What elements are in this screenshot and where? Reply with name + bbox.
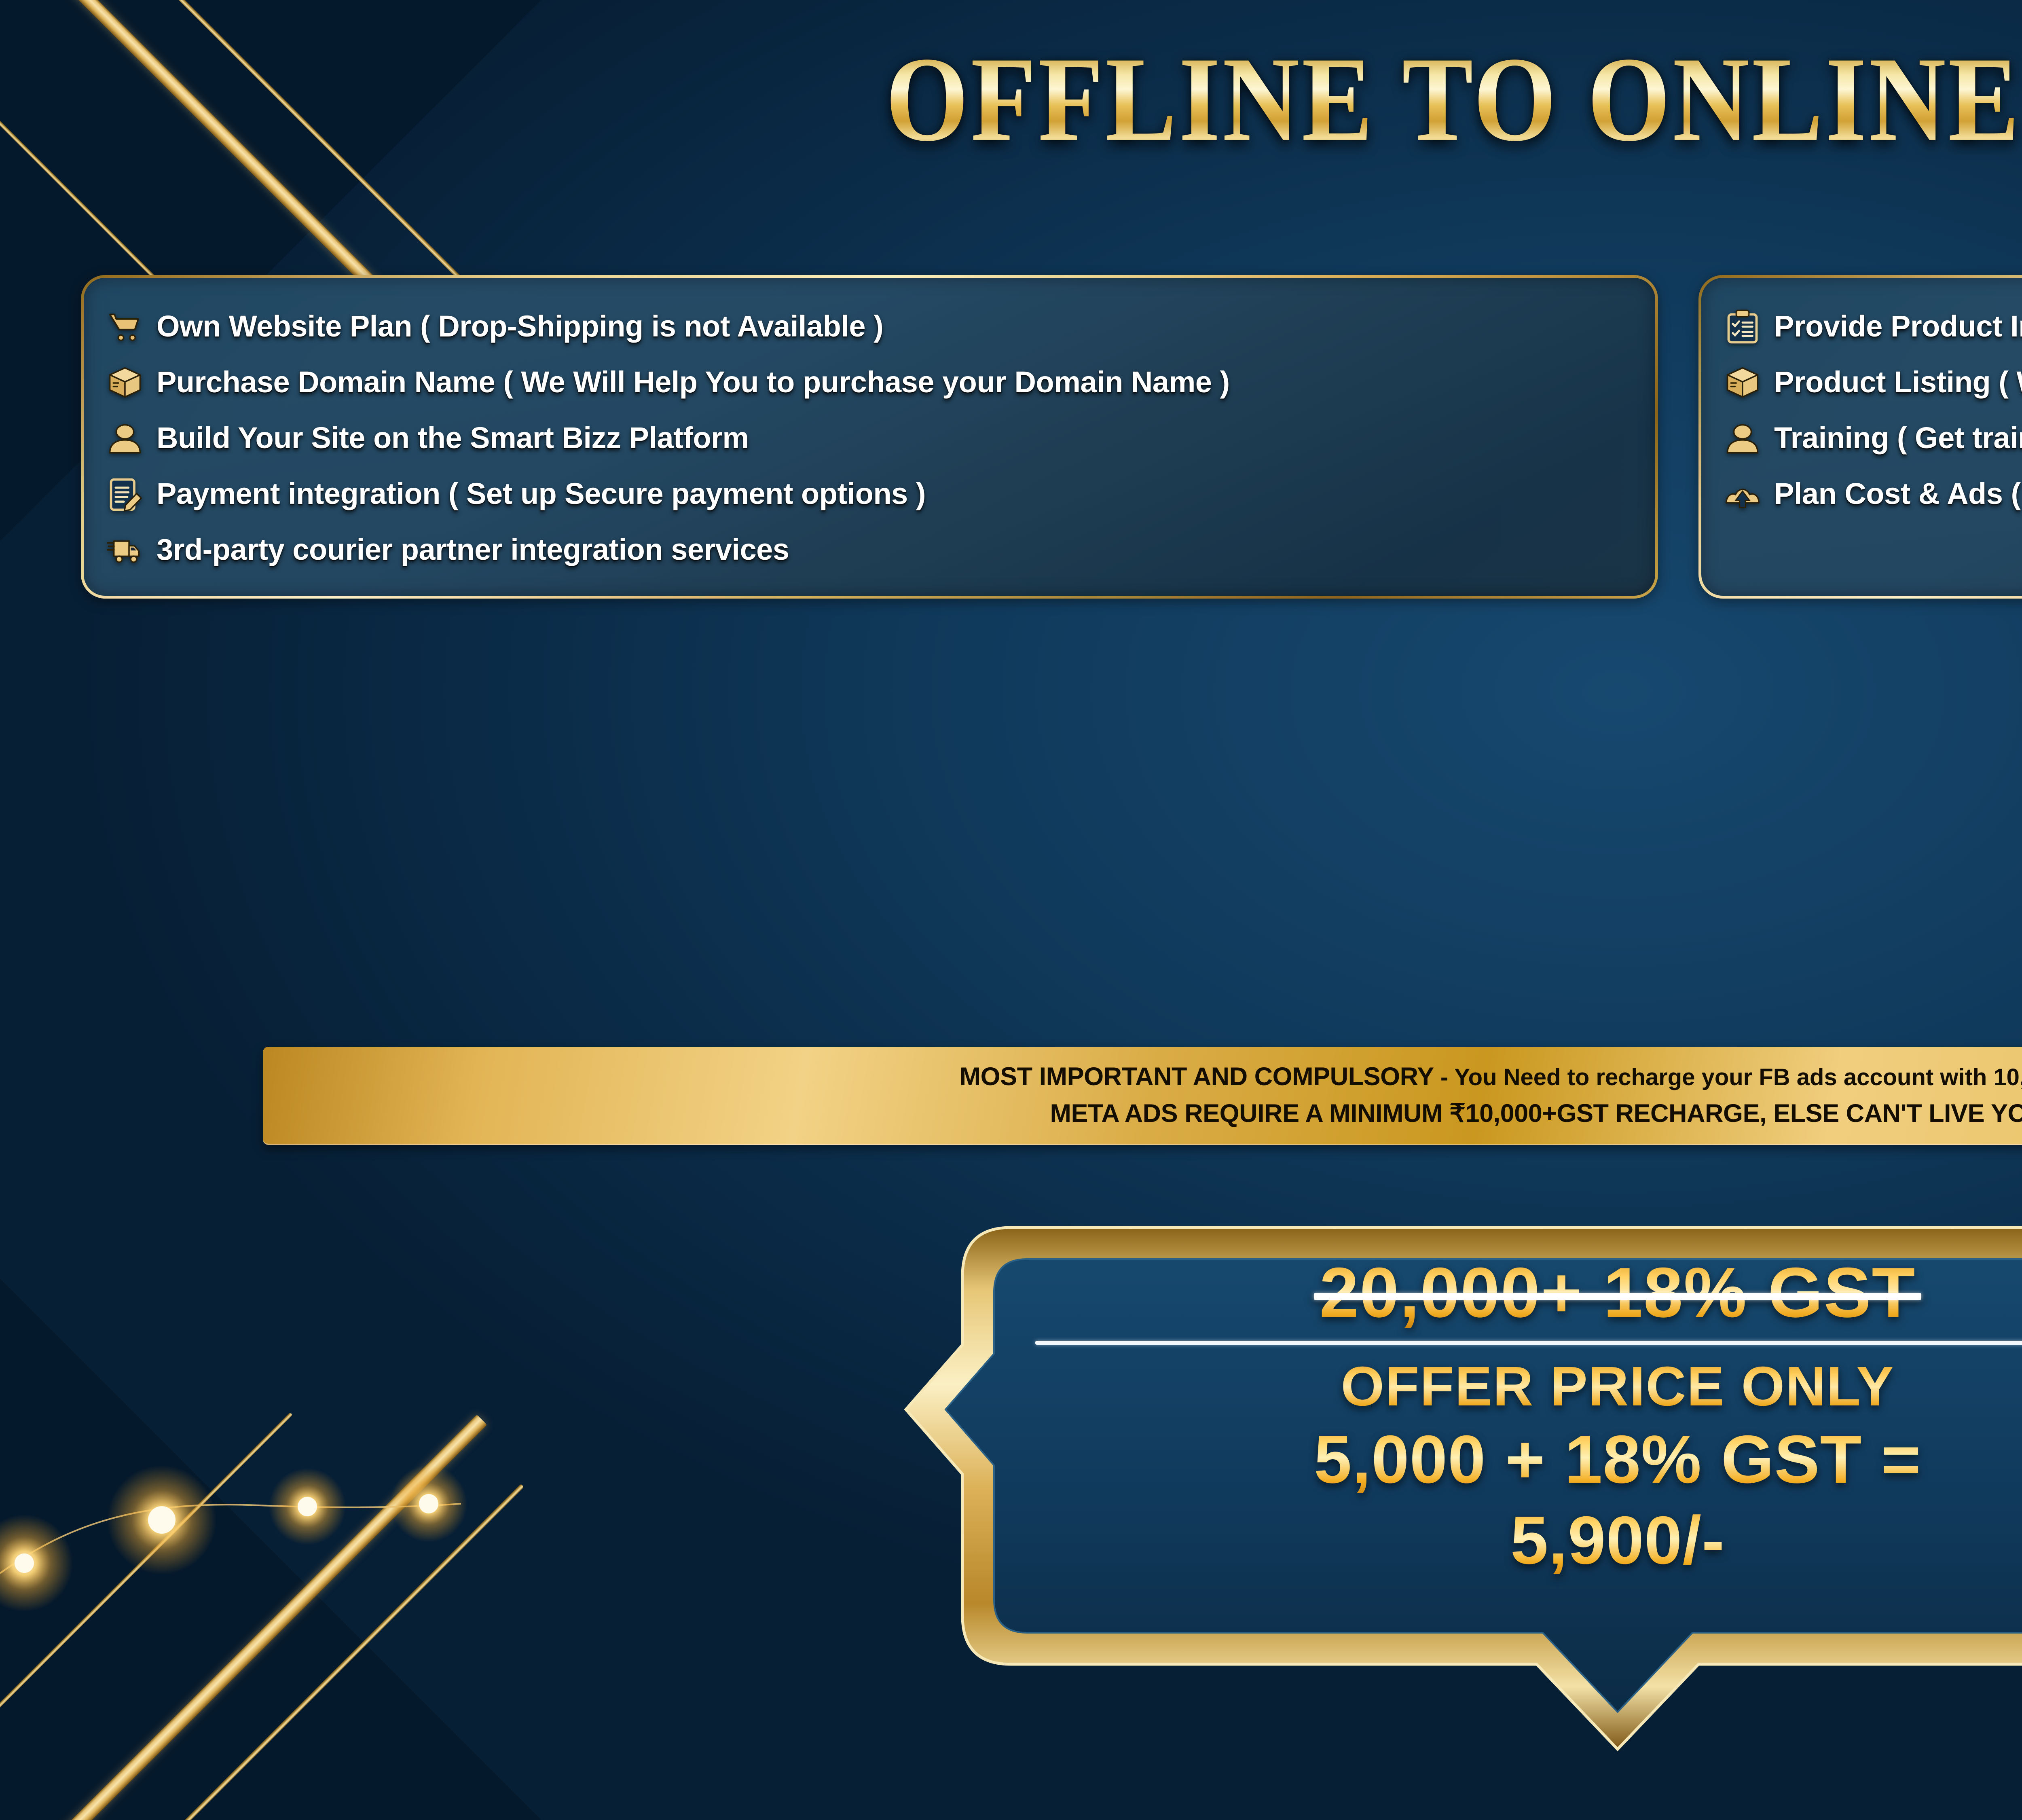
growth-arrow-icon: [1723, 475, 1762, 514]
banner-lead-text: MOST IMPORTANT AND COMPULSORY: [960, 1062, 1434, 1091]
feature-label: Product Listing ( We will List 20 produc…: [1774, 363, 2022, 402]
page-title-container: OFFLINE TO ONLINE PLAN: [0, 38, 2022, 160]
string-lights-decoration: [0, 1399, 566, 1642]
feature-label: Provide Product Info ( Client provides p…: [1774, 307, 2022, 346]
shopping-cart-icon: [106, 308, 144, 347]
feature-item: Product Listing ( We will List 20 produc…: [1723, 363, 2022, 402]
strikethrough-line: [1314, 1293, 1922, 1300]
feature-label: Payment integration ( Set up Secure paym…: [157, 474, 926, 513]
offer-price-label: OFFER PRICE ONLY: [1023, 1356, 2022, 1418]
feature-item: Build Your Site on the Smart Bizz Platfo…: [106, 419, 1633, 458]
warning-banner: MOST IMPORTANT AND COMPULSORY - You Need…: [263, 1047, 2022, 1145]
client-requirements-panel: Provide Product Info ( Client provides p…: [1698, 275, 2022, 599]
clipboard-checklist-icon: [1723, 308, 1762, 347]
price-badge: 20,000+ 18% GST OFFER PRICE ONLY 5,000 +…: [890, 1211, 2022, 1778]
feature-label: Purchase Domain Name ( We Will Help You …: [157, 363, 1230, 402]
package-box-icon: [1723, 364, 1762, 402]
feature-item: Own Website Plan ( Drop-Shipping is not …: [106, 307, 1633, 347]
deliverables-panel: Own Website Plan ( Drop-Shipping is not …: [81, 275, 1658, 599]
banner-rest-text: - You Need to recharge your FB ads accou…: [1434, 1064, 2022, 1090]
feature-label: Training ( Get training for adding more …: [1774, 419, 2022, 457]
page-title: OFFLINE TO ONLINE PLAN: [886, 38, 2022, 160]
offer-amount-line-1: 5,000 + 18% GST =: [1023, 1420, 2022, 1499]
feature-label: 3rd-party courier partner integration se…: [157, 530, 789, 569]
original-price: 20,000+ 18% GST: [1320, 1256, 1916, 1330]
banner-line-1: MOST IMPORTANT AND COMPULSORY - You Need…: [279, 1060, 2022, 1093]
feature-label: Plan Cost & Ads ( 5,000+ tax ( Plan Fee …: [1774, 474, 2022, 513]
price-badge-content: 20,000+ 18% GST OFFER PRICE ONLY 5,000 +…: [1023, 1256, 2022, 1580]
banner-line-2: META ADS REQUIRE A MINIMUM ₹10,000+GST R…: [279, 1097, 2022, 1130]
document-pencil-icon: [106, 475, 144, 514]
feature-label: Own Website Plan ( Drop-Shipping is not …: [157, 307, 883, 346]
price-divider: [1035, 1341, 2022, 1345]
feature-item: Purchase Domain Name ( We Will Help You …: [106, 363, 1633, 402]
delivery-truck-icon: [106, 531, 144, 570]
feature-item: 3rd-party courier partner integration se…: [106, 530, 1633, 570]
feature-item: Provide Product Info ( Client provides p…: [1723, 307, 2022, 347]
offer-amount-line-2: 5,900/-: [1023, 1501, 2022, 1580]
feature-item: Training ( Get training for adding more …: [1723, 419, 2022, 458]
user-person-icon: [106, 419, 144, 458]
feature-item: Plan Cost & Ads ( 5,000+ tax ( Plan Fee …: [1723, 474, 2022, 514]
feature-panels-container: Own Website Plan ( Drop-Shipping is not …: [81, 275, 2022, 599]
user-person-icon: [1723, 419, 1762, 458]
feature-label: Build Your Site on the Smart Bizz Platfo…: [157, 419, 749, 457]
feature-item: Payment integration ( Set up Secure paym…: [106, 474, 1633, 514]
package-box-icon: [106, 364, 144, 402]
